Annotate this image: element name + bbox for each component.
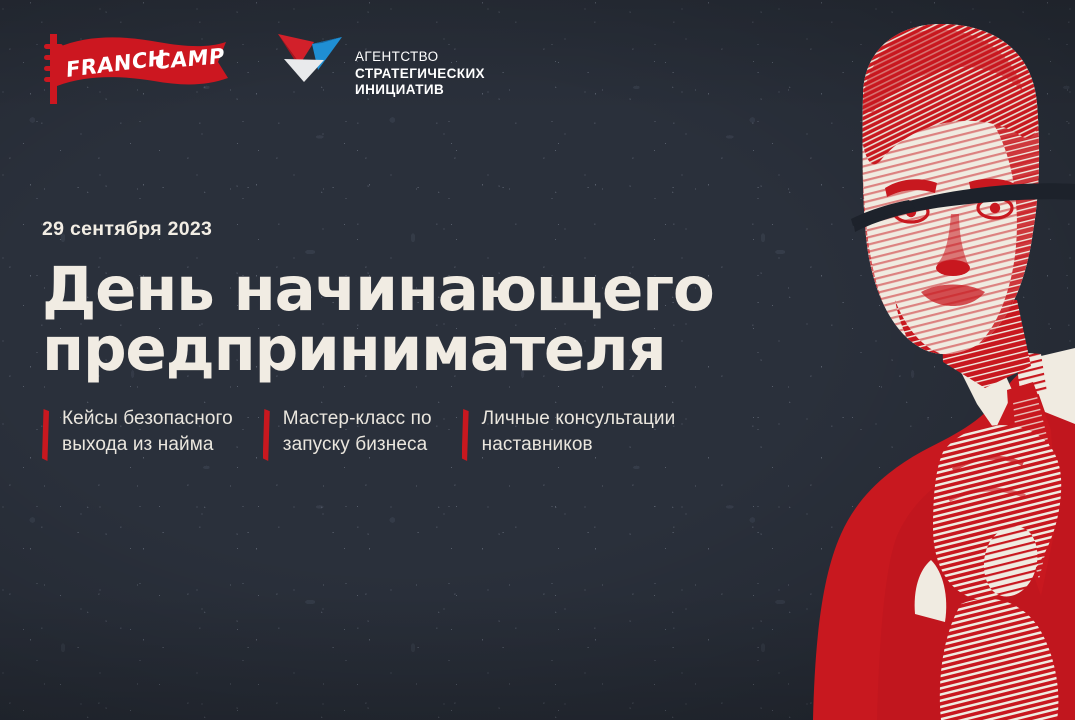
event-copy: 29 сентября 2023 День начинающего предпр… (42, 218, 852, 381)
list-item: Кейсы безопасного выхода из найма (42, 406, 263, 461)
asi-wordmark: АГЕНТСТВО СТРАТЕГИЧЕСКИХ ИНИЦИАТИВ (355, 30, 485, 99)
headline-line-1: День начинающего (42, 260, 852, 320)
portrait-hand (915, 425, 1062, 720)
asi-line-2: СТРАТЕГИЧЕСКИХ (355, 66, 485, 83)
portrait-neck (941, 300, 1031, 388)
three-arrows-mark-icon (274, 30, 346, 86)
page-title: День начинающего предпринимателя (42, 260, 852, 381)
asi-line-1: АГЕНТСТВО (355, 49, 485, 66)
franch-camp-logo[interactable]: FRANCH CAMP (40, 28, 230, 106)
portrait-suit (813, 355, 1075, 720)
asi-line-3: ИНИЦИАТИВ (355, 82, 485, 99)
headline-line-2: предпринимателя (42, 320, 852, 380)
portrait-head (845, 10, 1075, 380)
promo-banner: FRANCH CAMP АГЕНТСТВО СТ (0, 0, 1075, 720)
list-item: Личные консультации наставников (462, 406, 706, 461)
event-date: 29 сентября 2023 (42, 218, 852, 241)
agency-strategic-initiatives-logo[interactable]: АГЕНТСТВО СТРАТЕГИЧЕСКИХ ИНИЦИАТИВ (274, 28, 485, 99)
list-item: Мастер-класс по запуску бизнеса (263, 406, 462, 461)
red-accent-bar-icon (263, 409, 270, 461)
portrait-eye-brush-stroke (851, 183, 1075, 232)
feature-list: Кейсы безопасного выхода из найма Мастер… (42, 406, 705, 461)
portrait-necktie (1007, 382, 1057, 596)
logo-row: FRANCH CAMP АГЕНТСТВО СТ (40, 28, 485, 106)
red-accent-bar-icon (462, 409, 469, 461)
feature-text: Личные консультации наставников (482, 406, 676, 458)
red-accent-bar-icon (42, 409, 49, 461)
feature-text: Мастер-класс по запуску бизнеса (283, 406, 432, 458)
feature-text: Кейсы безопасного выхода из найма (62, 406, 233, 458)
portrait-shirt-collar (961, 348, 1075, 430)
